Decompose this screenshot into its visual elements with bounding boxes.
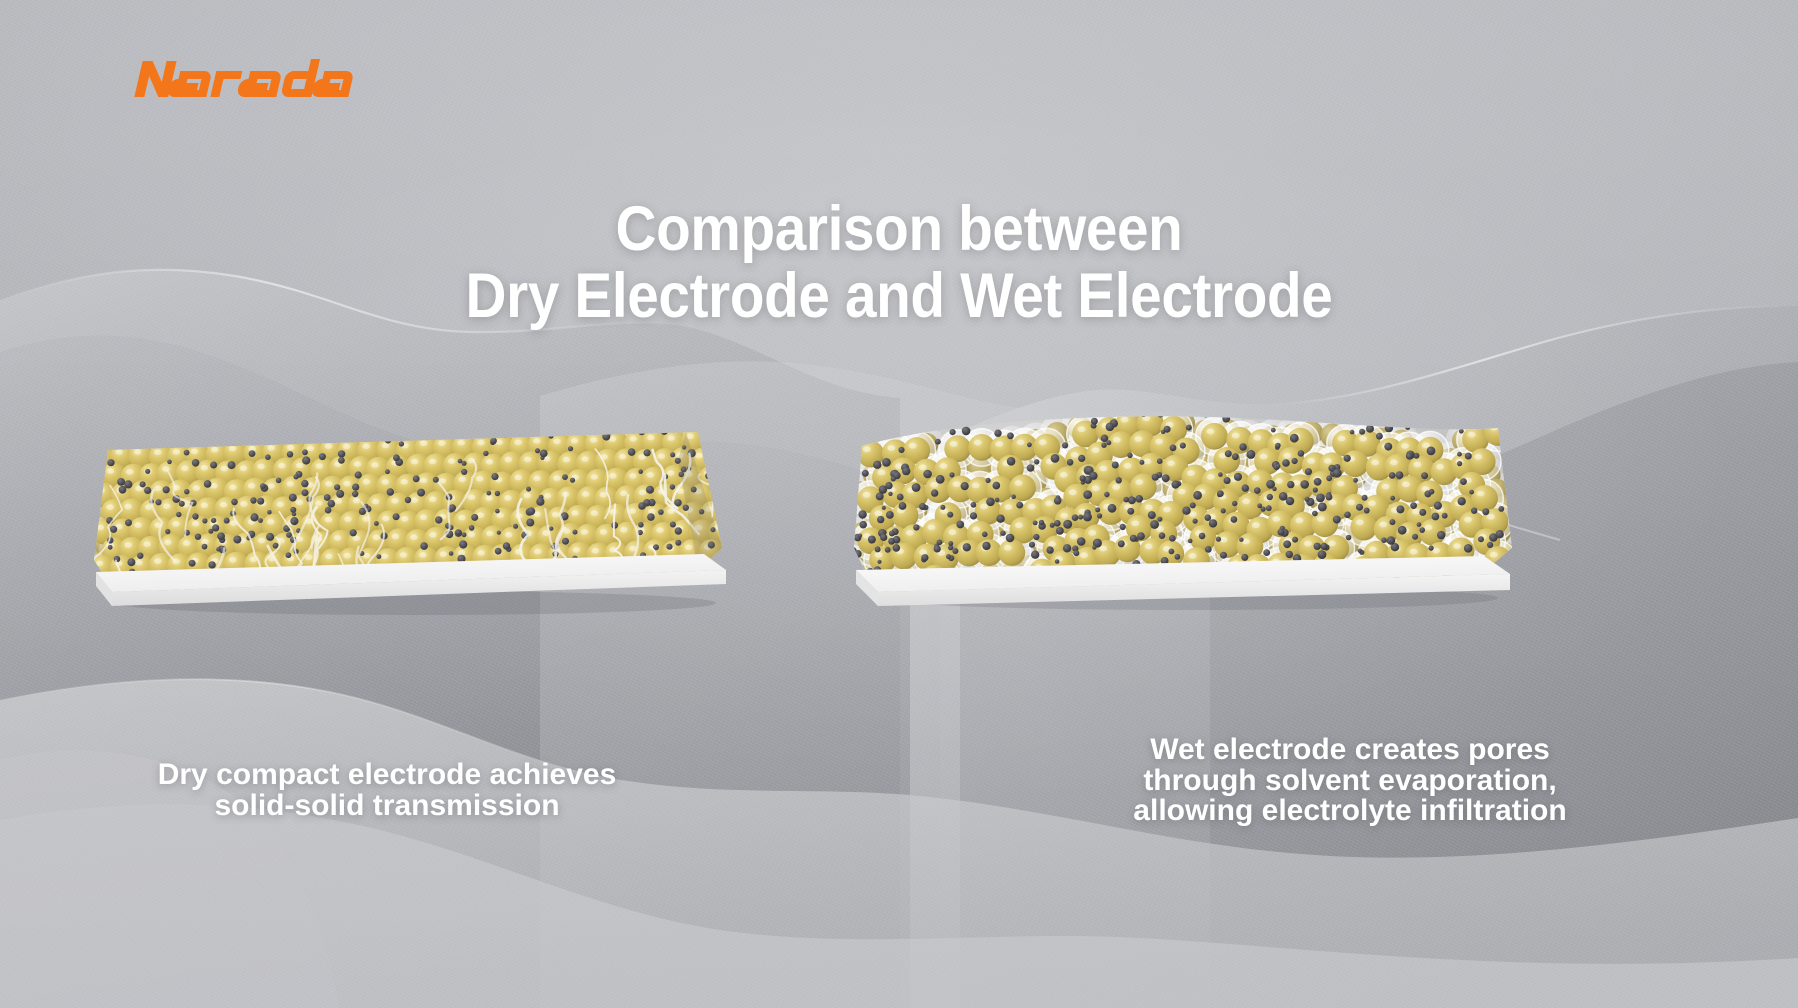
narada-logo[interactable] xyxy=(128,55,358,103)
wet-electrode-caption: Wet electrode creates pores through solv… xyxy=(1090,735,1610,827)
wet-caption-line-3: allowing electrolyte infiltration xyxy=(1090,796,1610,827)
wet-electrode-figure[interactable] xyxy=(848,398,1518,623)
dry-electrode-caption: Dry compact electrode achieves solid-sol… xyxy=(92,760,682,821)
slide-title: Comparison between Dry Electrode and Wet… xyxy=(90,196,1708,330)
title-line-1: Comparison between xyxy=(90,196,1708,263)
narada-wordmark-icon xyxy=(128,55,358,103)
title-line-2: Dry Electrode and Wet Electrode xyxy=(90,263,1708,330)
wet-caption-line-1: Wet electrode creates pores xyxy=(1090,735,1610,766)
dry-electrode-figure[interactable] xyxy=(86,420,746,630)
slide-canvas: Comparison between Dry Electrode and Wet… xyxy=(0,0,1798,1008)
wet-caption-line-2: through solvent evaporation, xyxy=(1090,766,1610,797)
dry-caption-line-1: Dry compact electrode achieves xyxy=(92,760,682,791)
dry-caption-line-2: solid-solid transmission xyxy=(92,791,682,822)
